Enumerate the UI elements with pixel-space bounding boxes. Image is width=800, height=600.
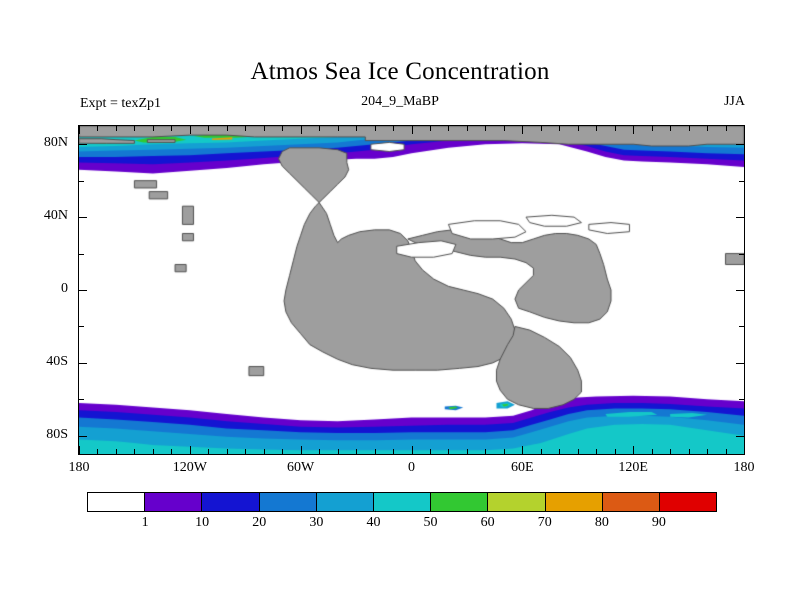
axis-tick <box>652 126 653 131</box>
axis-tick <box>736 144 744 145</box>
axis-tick <box>79 436 87 437</box>
axis-tick <box>116 126 117 131</box>
axis-tick <box>79 254 84 255</box>
x-tick-label-5: 120E <box>598 460 668 476</box>
axis-tick <box>393 126 394 131</box>
axis-tick <box>485 126 486 131</box>
x-tick-label-4: 60E <box>487 460 557 476</box>
axis-tick <box>739 326 744 327</box>
axis-tick <box>689 449 690 454</box>
axis-tick <box>707 449 708 454</box>
colorbar-tick-40: 40 <box>353 515 393 531</box>
axis-tick <box>596 449 597 454</box>
axis-tick <box>79 326 84 327</box>
colorbar-tick-60: 60 <box>468 515 508 531</box>
axis-tick <box>301 126 302 134</box>
subtitle-label: 204_9_MaBP <box>0 94 800 110</box>
axis-tick <box>736 290 744 291</box>
axis-tick <box>79 144 87 145</box>
axis-tick <box>375 449 376 454</box>
axis-tick <box>739 181 744 182</box>
axis-tick <box>430 126 431 131</box>
page-title: Atmos Sea Ice Concentration <box>0 58 800 86</box>
axis-tick <box>79 217 87 218</box>
axis-tick <box>134 449 135 454</box>
axis-tick <box>319 449 320 454</box>
axis-tick <box>504 126 505 131</box>
x-tick-label-0: 180 <box>44 460 114 476</box>
axis-tick <box>393 449 394 454</box>
axis-tick <box>245 449 246 454</box>
axis-tick <box>739 254 744 255</box>
axis-tick <box>744 446 745 454</box>
axis-tick <box>116 449 117 454</box>
axis-tick <box>79 446 80 454</box>
axis-tick <box>171 126 172 131</box>
x-tick-label-3: 0 <box>377 460 447 476</box>
axis-tick <box>79 181 84 182</box>
colorbar-tick-70: 70 <box>525 515 565 531</box>
axis-tick <box>412 126 413 134</box>
colorbar-tick-90: 90 <box>639 515 679 531</box>
axis-tick <box>670 449 671 454</box>
map-plot-frame <box>78 125 745 455</box>
axis-tick <box>652 449 653 454</box>
axis-tick <box>79 126 80 134</box>
colorbar-tick-80: 80 <box>582 515 622 531</box>
season-label: JJA <box>724 94 745 110</box>
axis-tick <box>264 126 265 131</box>
axis-tick <box>356 449 357 454</box>
colorbar-swatch-3 <box>260 493 317 511</box>
axis-tick <box>208 126 209 131</box>
colorbar-tick-10: 10 <box>182 515 222 531</box>
axis-tick <box>208 449 209 454</box>
axis-tick <box>739 399 744 400</box>
x-tick-label-6: 180 <box>709 460 779 476</box>
axis-tick <box>448 126 449 131</box>
axis-tick <box>726 126 727 131</box>
y-tick-label-80S: 80S <box>22 427 68 443</box>
axis-tick <box>736 363 744 364</box>
y-tick-label-0: 0 <box>22 281 68 297</box>
figure-root: Atmos Sea Ice Concentration Expt = texZp… <box>0 0 800 600</box>
colorbar-swatch-5 <box>374 493 431 511</box>
axis-tick <box>615 126 616 131</box>
axis-tick <box>338 126 339 131</box>
axis-tick <box>467 449 468 454</box>
colorbar-swatch-1 <box>145 493 202 511</box>
axis-tick <box>171 449 172 454</box>
axis-tick <box>282 449 283 454</box>
colorbar-swatch-9 <box>603 493 660 511</box>
axis-tick <box>541 126 542 131</box>
axis-tick <box>633 446 634 454</box>
colorbar-tick-1: 1 <box>125 515 165 531</box>
axis-tick <box>541 449 542 454</box>
axis-tick <box>485 449 486 454</box>
x-tick-label-2: 60W <box>266 460 336 476</box>
axis-tick <box>736 436 744 437</box>
axis-tick <box>430 449 431 454</box>
axis-tick <box>375 126 376 131</box>
axis-tick <box>578 126 579 131</box>
sea-ice-map <box>79 126 744 454</box>
axis-tick <box>412 446 413 454</box>
axis-tick <box>153 126 154 131</box>
axis-tick <box>670 126 671 131</box>
axis-tick <box>97 449 98 454</box>
axis-tick <box>467 126 468 131</box>
colorbar-swatch-4 <box>317 493 374 511</box>
axis-tick <box>448 449 449 454</box>
axis-tick <box>504 449 505 454</box>
axis-tick <box>633 126 634 134</box>
colorbar-swatch-2 <box>202 493 259 511</box>
axis-tick <box>689 126 690 131</box>
colorbar-swatch-8 <box>546 493 603 511</box>
colorbar-swatch-10 <box>660 493 716 511</box>
axis-tick <box>79 399 84 400</box>
axis-tick <box>190 126 191 134</box>
axis-tick <box>264 449 265 454</box>
axis-tick <box>559 126 560 131</box>
y-tick-label-40S: 40S <box>22 354 68 370</box>
axis-tick <box>338 449 339 454</box>
y-tick-label-80N: 80N <box>22 135 68 151</box>
x-tick-label-1: 120W <box>155 460 225 476</box>
axis-tick <box>301 446 302 454</box>
axis-tick <box>79 290 87 291</box>
axis-tick <box>134 126 135 131</box>
colorbar-swatch-7 <box>488 493 545 511</box>
axis-tick <box>522 126 523 134</box>
colorbar-swatch-0 <box>88 493 145 511</box>
axis-tick <box>744 126 745 134</box>
colorbar <box>87 492 717 512</box>
colorbar-tick-50: 50 <box>411 515 451 531</box>
axis-tick <box>707 126 708 131</box>
axis-tick <box>227 126 228 131</box>
axis-tick <box>227 449 228 454</box>
axis-tick <box>245 126 246 131</box>
axis-tick <box>190 446 191 454</box>
axis-tick <box>522 446 523 454</box>
axis-tick <box>615 449 616 454</box>
colorbar-tick-30: 30 <box>296 515 336 531</box>
axis-tick <box>736 217 744 218</box>
axis-tick <box>79 363 87 364</box>
axis-tick <box>153 449 154 454</box>
axis-tick <box>578 449 579 454</box>
axis-tick <box>97 126 98 131</box>
colorbar-swatch-6 <box>431 493 488 511</box>
axis-tick <box>559 449 560 454</box>
axis-tick <box>356 126 357 131</box>
axis-tick <box>596 126 597 131</box>
axis-tick <box>319 126 320 131</box>
axis-tick <box>282 126 283 131</box>
colorbar-tick-20: 20 <box>239 515 279 531</box>
axis-tick <box>726 449 727 454</box>
y-tick-label-40N: 40N <box>22 208 68 224</box>
